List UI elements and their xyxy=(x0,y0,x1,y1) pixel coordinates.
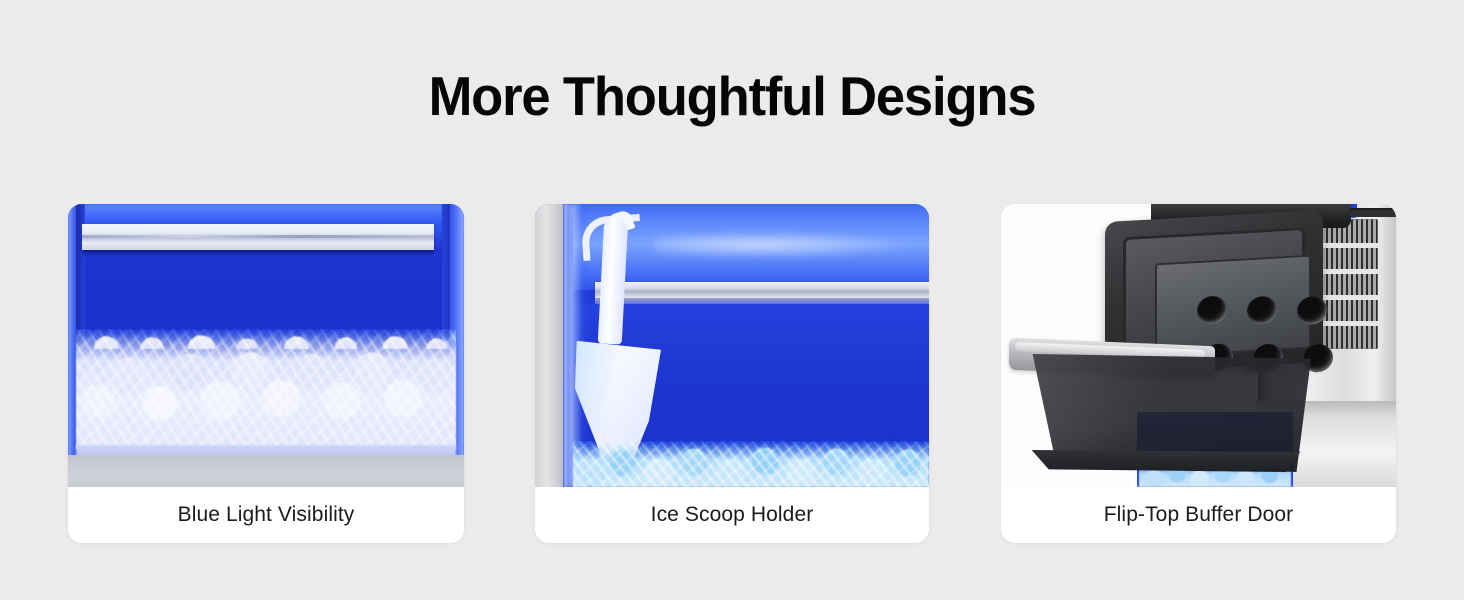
feature-image-ice-scoop-holder xyxy=(535,204,929,487)
feature-caption-blue-light-visibility: Blue Light Visibility xyxy=(68,487,464,543)
feature-image-blue-light-visibility xyxy=(68,204,464,487)
vent-grille xyxy=(1316,219,1378,349)
feature-card-flip-top-buffer-door[interactable]: Flip-Top Buffer Door xyxy=(1001,204,1396,543)
ice-cube-texture xyxy=(76,329,456,449)
promo-page: More Thoughtful Designs xyxy=(0,0,1464,600)
light-reflection-highlight xyxy=(655,230,915,260)
lid-inner-frame xyxy=(1123,227,1305,355)
lid-hole-panel xyxy=(1155,255,1311,358)
buffer-door-front-edge xyxy=(1023,450,1309,472)
ice-cube-texture xyxy=(573,441,929,487)
flip-top-door-photo xyxy=(1001,204,1396,487)
feature-card-ice-scoop-holder[interactable]: Ice Scoop Holder xyxy=(535,204,929,543)
door-top-slot xyxy=(1349,208,1396,217)
metal-cross-bar xyxy=(82,224,434,250)
ice-scoop-photo xyxy=(535,204,929,487)
metal-cross-bar-shadow xyxy=(82,250,434,257)
feature-image-flip-top-buffer-door xyxy=(1001,204,1396,487)
vent-divider xyxy=(1316,321,1378,326)
vent-divider xyxy=(1316,243,1378,248)
lid-hole-icon xyxy=(1247,295,1277,325)
vent-divider xyxy=(1316,269,1378,274)
vent-divider xyxy=(1316,295,1378,300)
cabinet-left-panel xyxy=(535,204,563,487)
metal-cross-bar-lip xyxy=(595,298,929,304)
feature-caption-flip-top-buffer-door: Flip-Top Buffer Door xyxy=(1001,487,1396,543)
cabinet-base-strip xyxy=(68,455,464,487)
page-title: More Thoughtful Designs xyxy=(33,66,1431,126)
metal-cross-bar xyxy=(595,282,929,298)
lid-hole-icon xyxy=(1197,295,1227,325)
lid-hole-icon xyxy=(1297,296,1327,326)
ice-bin-blue-light-photo xyxy=(68,204,464,487)
feature-card-blue-light-visibility[interactable]: Blue Light Visibility xyxy=(68,204,464,543)
feature-caption-ice-scoop-holder: Ice Scoop Holder xyxy=(535,487,929,543)
feature-card-row: Blue Light Visibility xyxy=(68,204,1396,544)
